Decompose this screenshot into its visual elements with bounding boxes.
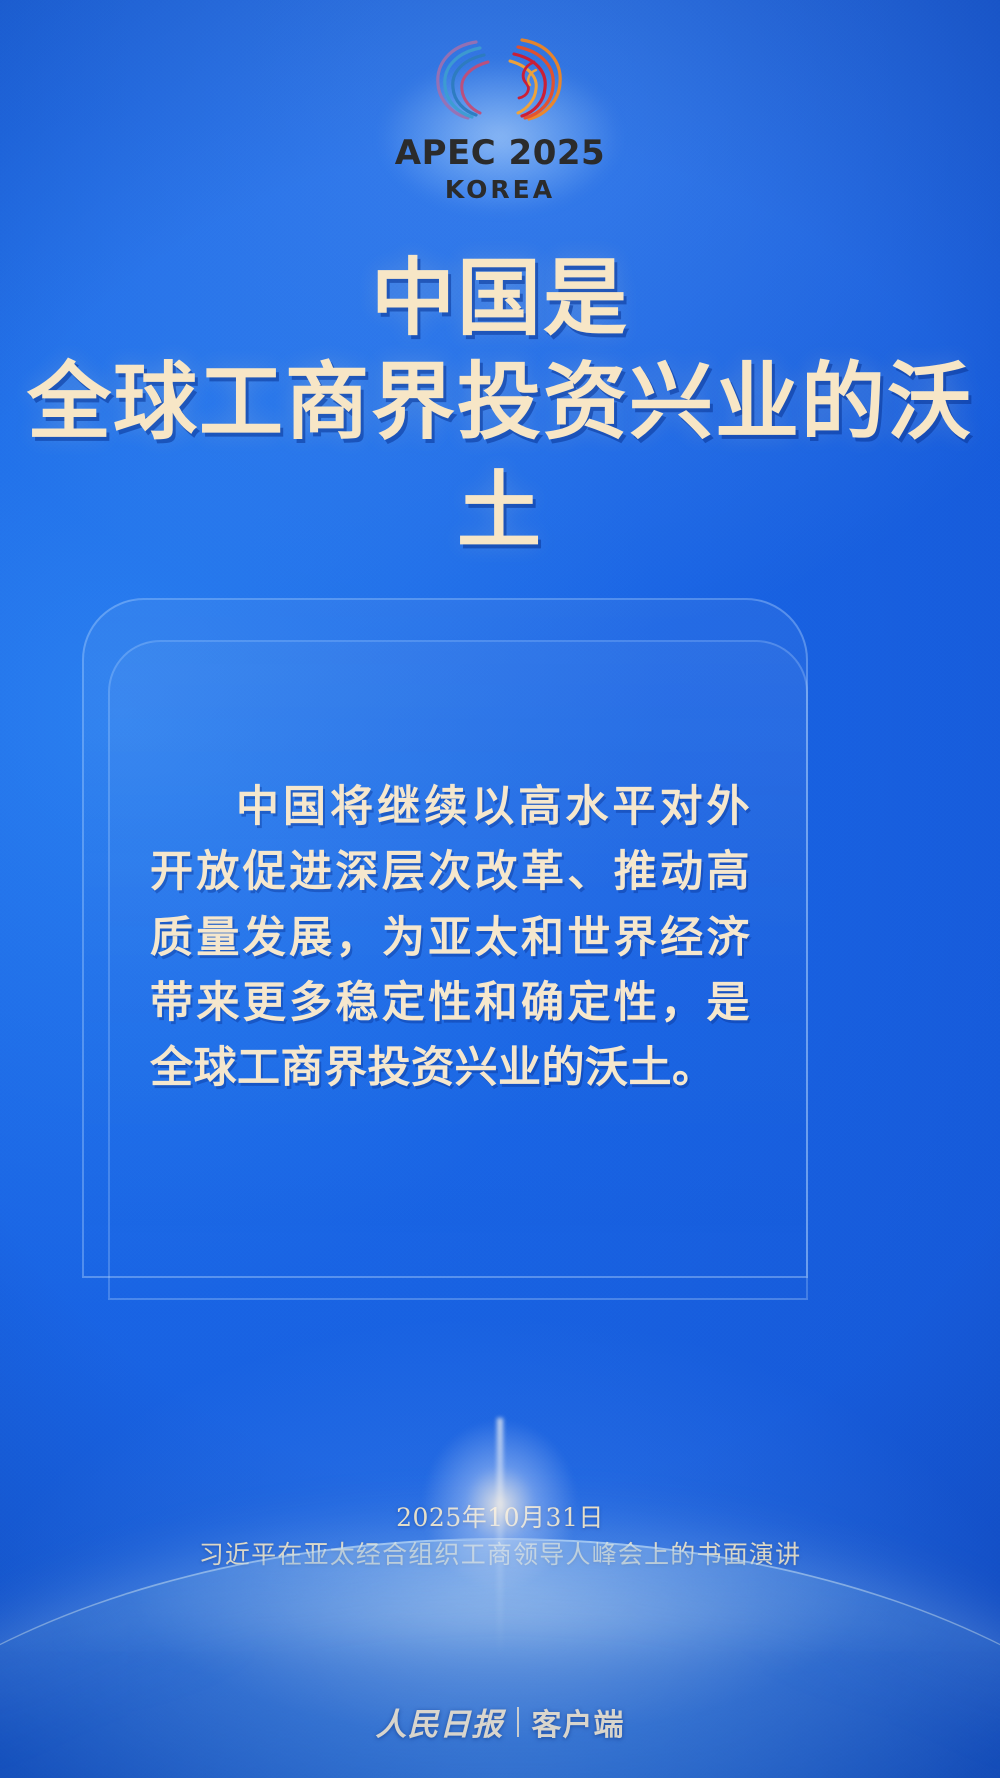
brand-divider [517, 1707, 519, 1737]
page-title: 中国是 全球工商界投资兴业的沃土 [0, 248, 1000, 565]
headline-line-1: 中国是 [0, 248, 1000, 347]
apec-logo-title: APEC 2025 [395, 136, 605, 170]
poster-root: APEC 2025 KOREA 中国是 全球工商界投资兴业的沃土 中国将继续以高… [0, 0, 1000, 1778]
publisher-logo-text: 人民日报 [376, 1699, 504, 1744]
sunburst-glow [350, 1362, 650, 1592]
footer-brand: 人民日报 客户端 [0, 1699, 1000, 1744]
apec-logo-subtitle: KOREA [445, 177, 555, 202]
quote-text: 中国将继续以高水平对外开放促进深层次改革、推动高质量发展，为亚太和世界经济带来更… [150, 775, 750, 1102]
apec-logo: APEC 2025 KOREA [0, 26, 1000, 202]
headline-line-2: 全球工商界投资兴业的沃土 [0, 347, 1000, 565]
product-name: 客户端 [532, 1700, 625, 1744]
apec-emblem-icon [410, 26, 590, 134]
